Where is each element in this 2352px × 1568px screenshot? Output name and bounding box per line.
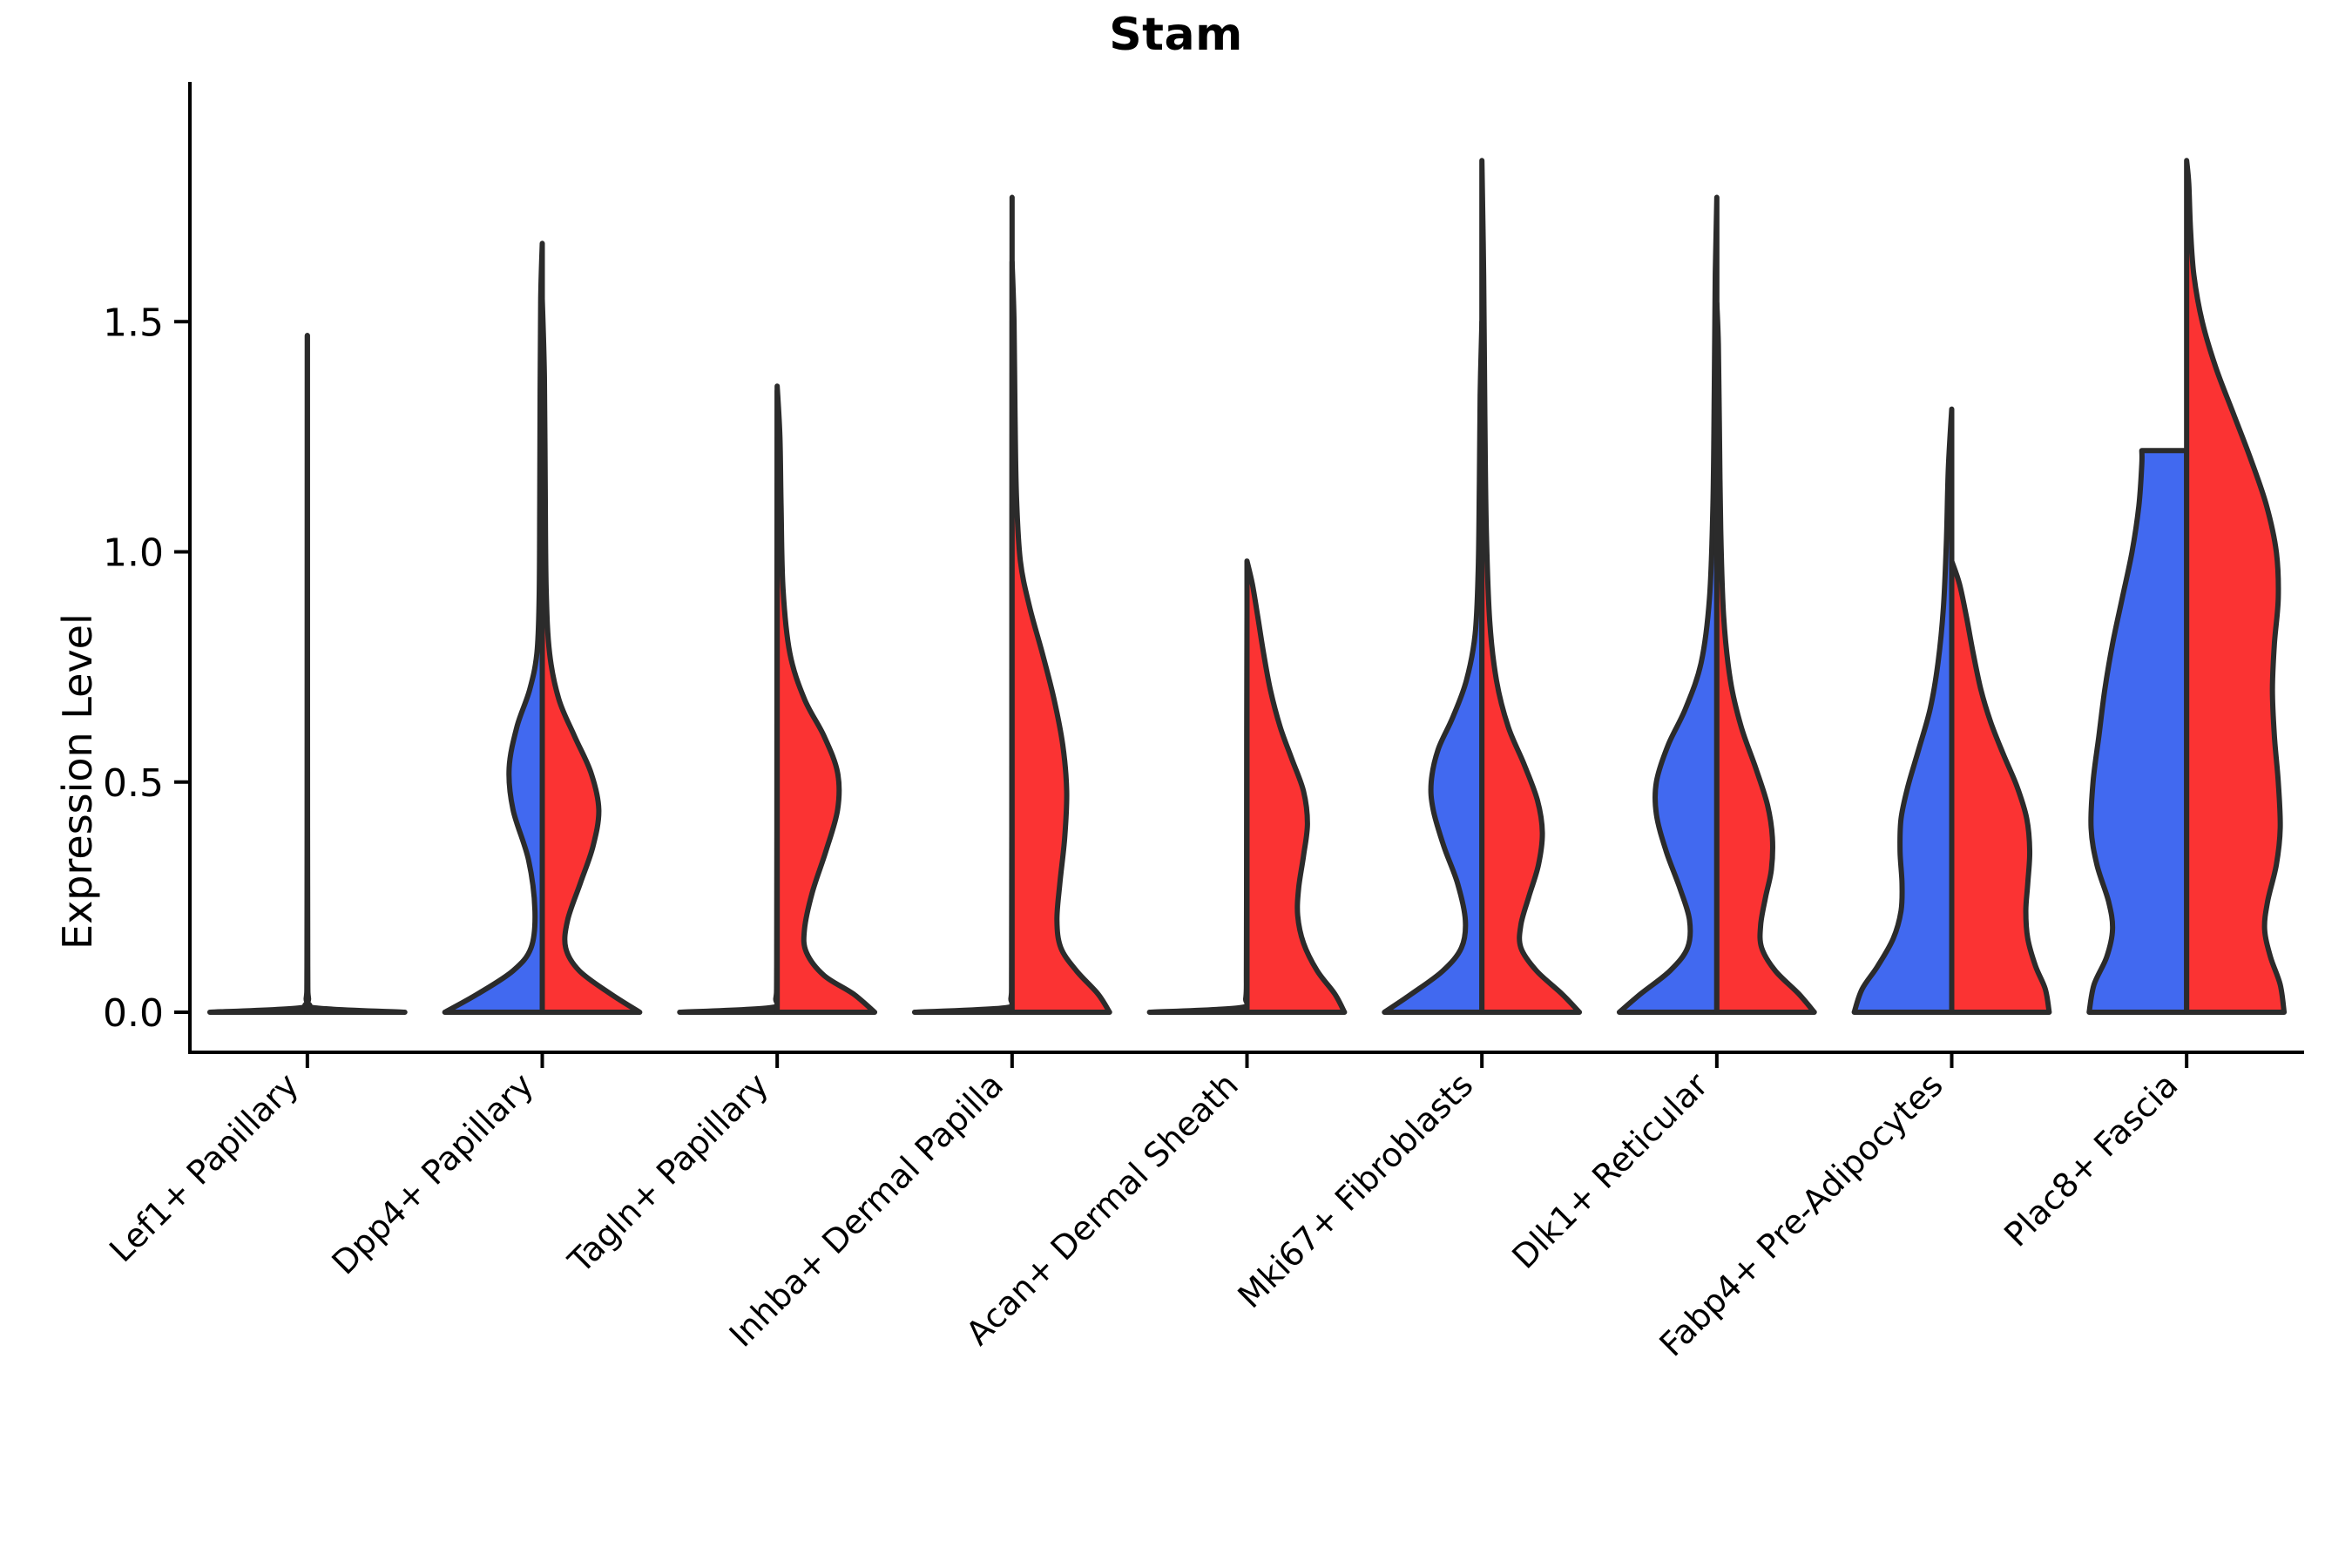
violin-group[interactable] <box>1619 198 1815 1012</box>
violin-group[interactable] <box>1855 409 2050 1012</box>
violin-right-half[interactable] <box>1952 561 2050 1012</box>
violin-group[interactable] <box>210 335 405 1012</box>
violin-left-half[interactable] <box>445 243 543 1012</box>
violin-left-half[interactable] <box>1855 409 1952 1012</box>
violin-left-half[interactable] <box>915 198 1015 1012</box>
violin-left-half[interactable] <box>1619 198 1717 1012</box>
violin-plot-figure: Stam Expression Level 0.00.51.01.5Lef1+ … <box>0 0 2352 1568</box>
x-tick-label: Inhba+ Dermal Papilla <box>722 1065 1011 1355</box>
violin-group[interactable] <box>1384 160 1579 1012</box>
violin-right-half[interactable] <box>1247 561 1345 1012</box>
chart-canvas: 0.00.51.01.5Lef1+ PapillaryDpp4+ Papilla… <box>0 0 2352 1568</box>
violin-left-half[interactable] <box>1150 612 1249 1012</box>
violin-right-half[interactable] <box>2186 160 2284 1012</box>
violin-left-half[interactable] <box>2089 450 2186 1012</box>
violin-group[interactable] <box>445 243 640 1012</box>
violin-right-half[interactable] <box>1717 303 1815 1012</box>
y-tick-label: 0.0 <box>103 991 164 1036</box>
x-tick-label: Acan+ Dermal Sheath <box>958 1065 1245 1352</box>
violin-right-half[interactable] <box>1012 262 1110 1012</box>
y-tick-label: 1.5 <box>103 301 164 345</box>
x-tick-label: Mki67+ Fibroblasts <box>1231 1065 1481 1315</box>
violin-group[interactable] <box>2089 160 2284 1012</box>
violin-left-half[interactable] <box>210 335 310 1012</box>
x-tick-label: Tagln+ Papillary <box>560 1065 775 1281</box>
violin-right-half[interactable] <box>543 299 640 1012</box>
violin-group[interactable] <box>679 386 875 1012</box>
violin-right-half[interactable] <box>305 335 405 1012</box>
x-tick-label: Lef1+ Papillary <box>102 1065 306 1269</box>
violin-right-half[interactable] <box>1482 160 1579 1012</box>
y-tick-label: 1.0 <box>103 531 164 576</box>
violin-group[interactable] <box>1150 561 1345 1012</box>
x-tick-label: Dlk1+ Reticular <box>1504 1065 1715 1276</box>
violin-right-half[interactable] <box>777 386 875 1012</box>
y-tick-label: 0.5 <box>103 761 164 806</box>
violin-group[interactable] <box>915 198 1110 1012</box>
x-tick-label: Dpp4+ Papillary <box>324 1065 540 1281</box>
violin-left-half[interactable] <box>679 391 779 1012</box>
violin-left-half[interactable] <box>1384 321 1482 1012</box>
x-tick-label: Plac8+ Fascia <box>1997 1065 2185 1254</box>
